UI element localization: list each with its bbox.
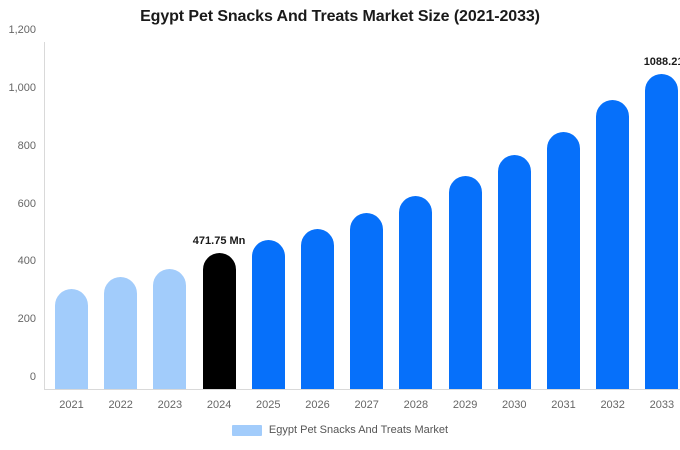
x-axis-tick-label: 2033 xyxy=(645,399,678,411)
x-axis-tick-label: 2021 xyxy=(55,399,88,411)
x-axis-tick-label: 2026 xyxy=(301,399,334,411)
legend-label: Egypt Pet Snacks And Treats Market xyxy=(269,424,448,436)
bar-value-label: 471.75 Mn xyxy=(193,235,246,247)
legend-item[interactable]: Egypt Pet Snacks And Treats Market xyxy=(232,424,448,436)
bar-slot xyxy=(596,42,629,389)
bar-slot xyxy=(301,42,334,389)
bar[interactable] xyxy=(547,132,580,389)
bar[interactable] xyxy=(153,269,186,389)
bar[interactable] xyxy=(203,253,236,389)
bar-slot xyxy=(399,42,432,389)
x-axis-line xyxy=(44,389,680,390)
bar-slot xyxy=(55,42,88,389)
bar-slot: 471.75 Mn xyxy=(203,42,236,389)
bar[interactable] xyxy=(252,240,285,389)
x-axis-tick-label: 2032 xyxy=(596,399,629,411)
bar-slot xyxy=(252,42,285,389)
x-axis-tick-label: 2029 xyxy=(449,399,482,411)
chart-legend: Egypt Pet Snacks And Treats Market xyxy=(0,424,680,436)
chart-title: Egypt Pet Snacks And Treats Market Size … xyxy=(0,8,680,26)
y-axis-tick-label: 0 xyxy=(30,371,36,383)
legend-swatch-icon xyxy=(232,425,262,436)
bar-slot xyxy=(104,42,137,389)
bar[interactable] xyxy=(449,176,482,389)
bar[interactable] xyxy=(645,74,678,389)
y-axis-tick-label: 400 xyxy=(18,255,36,267)
x-axis-tick-label: 2025 xyxy=(252,399,285,411)
bar[interactable] xyxy=(104,277,137,389)
bar[interactable] xyxy=(596,100,629,389)
bar-slot xyxy=(449,42,482,389)
bar[interactable] xyxy=(498,155,531,389)
x-axis-tick-label: 2024 xyxy=(203,399,236,411)
x-axis-tick-label: 2023 xyxy=(153,399,186,411)
y-axis-tick-label: 800 xyxy=(18,140,36,152)
y-axis-tick-label: 1,200 xyxy=(8,24,36,36)
bar-slot xyxy=(498,42,531,389)
plot-area: 02004006008001,0001,200 471.75 Mn1088.21… xyxy=(44,42,680,389)
bar[interactable] xyxy=(301,229,334,389)
bar[interactable] xyxy=(399,196,432,389)
bar-value-label: 1088.21 Mn xyxy=(644,56,680,68)
bar-slot xyxy=(547,42,580,389)
x-axis-tick-label: 2028 xyxy=(399,399,432,411)
x-axis-tick-label: 2030 xyxy=(498,399,531,411)
y-axis-tick-label: 600 xyxy=(18,198,36,210)
x-axis-tick-label: 2027 xyxy=(350,399,383,411)
x-axis-tick-label: 2031 xyxy=(547,399,580,411)
x-axis-tick-label: 2022 xyxy=(104,399,137,411)
bar-chart: Egypt Pet Snacks And Treats Market Size … xyxy=(0,0,680,450)
y-axis-tick-label: 200 xyxy=(18,313,36,325)
y-axis-tick-label: 1,000 xyxy=(8,82,36,94)
bar-slot xyxy=(350,42,383,389)
bar-slot: 1088.21 Mn xyxy=(645,42,678,389)
bar[interactable] xyxy=(55,289,88,389)
bar[interactable] xyxy=(350,213,383,389)
bar-slot xyxy=(153,42,186,389)
